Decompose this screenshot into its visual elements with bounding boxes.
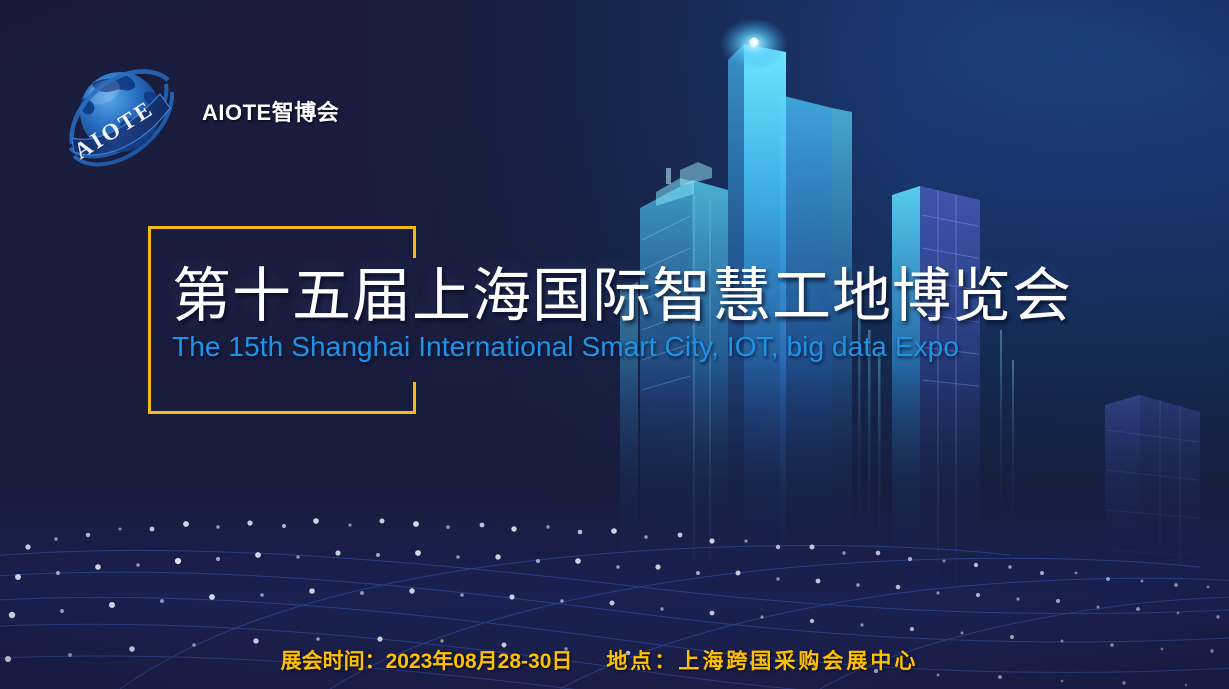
frame-left-edge <box>148 226 151 414</box>
event-date: 展会时间：2023年08月28-30日 <box>281 645 573 675</box>
footer-info: 展会时间：2023年08月28-30日 地点：上海跨国采购会展中心 <box>0 645 1229 675</box>
brand-name: AIOTE智博会 <box>202 95 339 127</box>
brand-logo[interactable]: AIOTE AIOTE智博会 <box>58 48 339 180</box>
frame-top-edge <box>148 226 416 229</box>
frame-right-bottom-edge <box>413 382 416 414</box>
page-subtitle: The 15th Shanghai International Smart Ci… <box>172 332 1172 363</box>
page-title: 第十五届上海国际智慧工地博览会 <box>172 266 1172 326</box>
globe-orbit-icon: AIOTE <box>58 48 190 180</box>
expo-poster: AIOTE AIOTE智博会 第十五届上海国际智慧工地博览会 The 15th … <box>0 0 1229 689</box>
frame-right-top-edge <box>413 226 416 258</box>
event-venue: 地点：上海跨国采购会展中心 <box>606 645 918 675</box>
frame-bottom-edge <box>148 411 416 414</box>
hero-title-block: 第十五届上海国际智慧工地博览会 The 15th Shanghai Intern… <box>172 266 1172 363</box>
